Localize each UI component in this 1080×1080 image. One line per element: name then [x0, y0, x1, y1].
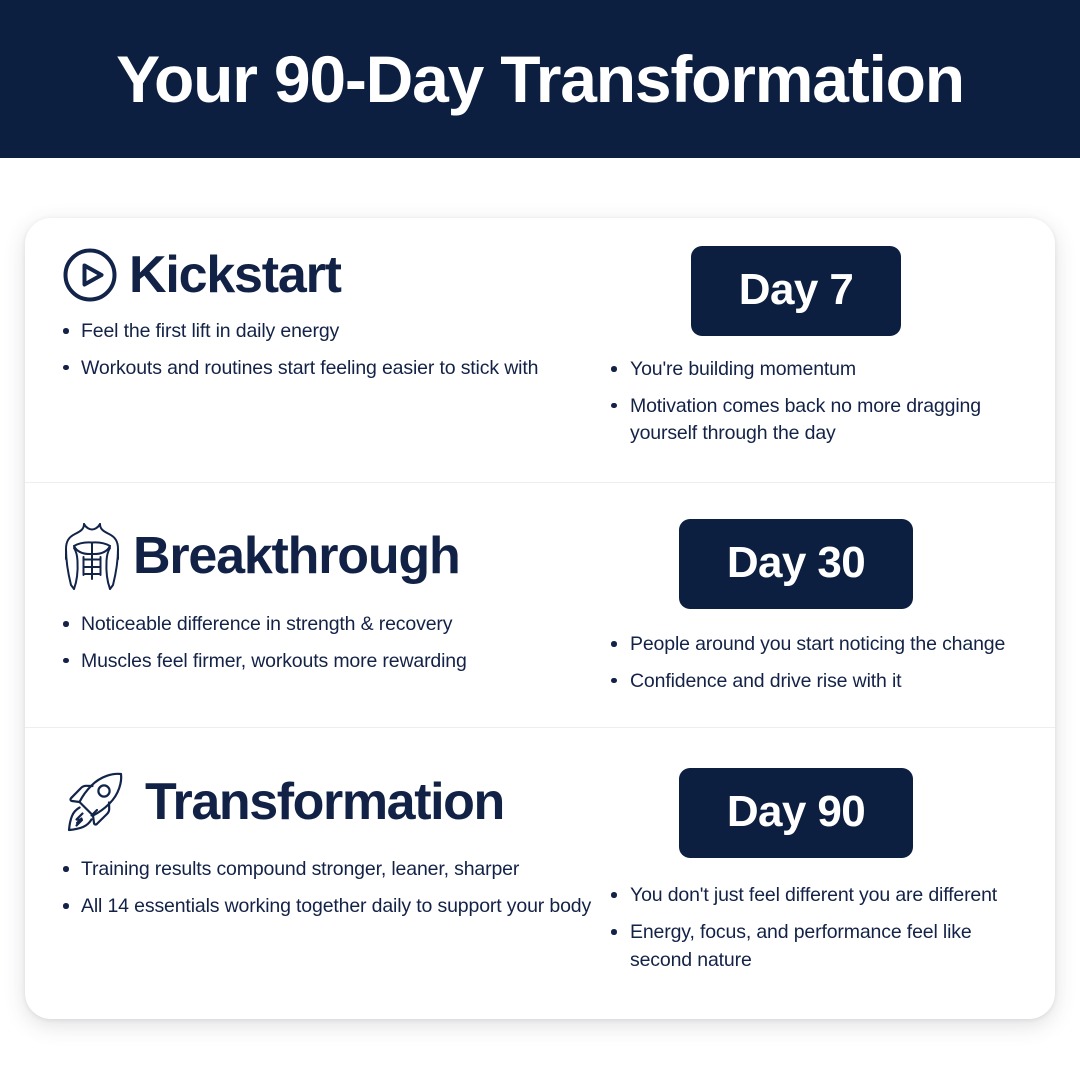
list-item: Motivation comes back no more dragging y… [609, 393, 1019, 448]
header-banner: Your 90-Day Transformation [0, 0, 1080, 158]
timeline-card: Kickstart Feel the first lift in daily e… [25, 218, 1055, 1019]
stage-left-column: Transformation Training results compound… [61, 768, 609, 974]
stage-heading: Kickstart [61, 246, 597, 304]
stage-right-bullets: You're building momentum Motivation come… [609, 356, 1019, 448]
badge-row: Day 90 [609, 768, 1019, 858]
list-item: Noticeable difference in strength & reco… [61, 611, 597, 639]
play-circle-icon [61, 246, 119, 304]
list-item: Feel the first lift in daily energy [61, 318, 597, 346]
stage-right-column: Day 90 You don't just feel different you… [609, 768, 1019, 974]
badge-row: Day 30 [609, 519, 1019, 609]
stage-left-bullets: Noticeable difference in strength & reco… [61, 611, 597, 675]
stage-row-transformation: Transformation Training results compound… [25, 727, 1055, 1018]
list-item: People around you start noticing the cha… [609, 631, 1019, 659]
list-item: You're building momentum [609, 356, 1019, 384]
list-item: Workouts and routines start feeling easi… [61, 355, 597, 383]
page-title: Your 90-Day Transformation [116, 46, 964, 112]
stage-right-column: Day 7 You're building momentum Motivatio… [609, 246, 1019, 448]
list-item: You don't just feel different you are di… [609, 882, 1019, 910]
day-badge: Day 7 [691, 246, 901, 336]
badge-row: Day 7 [609, 246, 1019, 336]
card-container: Kickstart Feel the first lift in daily e… [0, 158, 1080, 1019]
list-item: All 14 essentials working together daily… [61, 893, 597, 921]
stage-left-bullets: Training results compound stronger, lean… [61, 856, 597, 920]
list-item: Confidence and drive rise with it [609, 668, 1019, 696]
stage-row-breakthrough: Breakthrough Noticeable difference in st… [25, 482, 1055, 727]
list-item: Training results compound stronger, lean… [61, 856, 597, 884]
list-item: Energy, focus, and performance feel like… [609, 919, 1019, 974]
rocket-icon [61, 768, 127, 836]
list-item: Muscles feel firmer, workouts more rewar… [61, 648, 597, 676]
day-badge: Day 90 [679, 768, 913, 858]
stage-right-column: Day 30 People around you start noticing … [609, 519, 1019, 695]
stage-right-bullets: You don't just feel different you are di… [609, 882, 1019, 974]
stage-heading: Transformation [61, 768, 597, 836]
stage-left-column: Kickstart Feel the first lift in daily e… [61, 246, 609, 448]
stage-title: Transformation [145, 775, 504, 830]
day-badge: Day 30 [679, 519, 913, 609]
stage-row-kickstart: Kickstart Feel the first lift in daily e… [25, 218, 1055, 482]
stage-title: Kickstart [129, 248, 341, 303]
stage-left-bullets: Feel the first lift in daily energy Work… [61, 318, 597, 382]
stage-right-bullets: People around you start noticing the cha… [609, 631, 1019, 695]
stage-left-column: Breakthrough Noticeable difference in st… [61, 519, 609, 695]
stage-title: Breakthrough [133, 529, 460, 584]
stage-heading: Breakthrough [61, 519, 597, 593]
muscular-torso-icon [61, 519, 123, 593]
